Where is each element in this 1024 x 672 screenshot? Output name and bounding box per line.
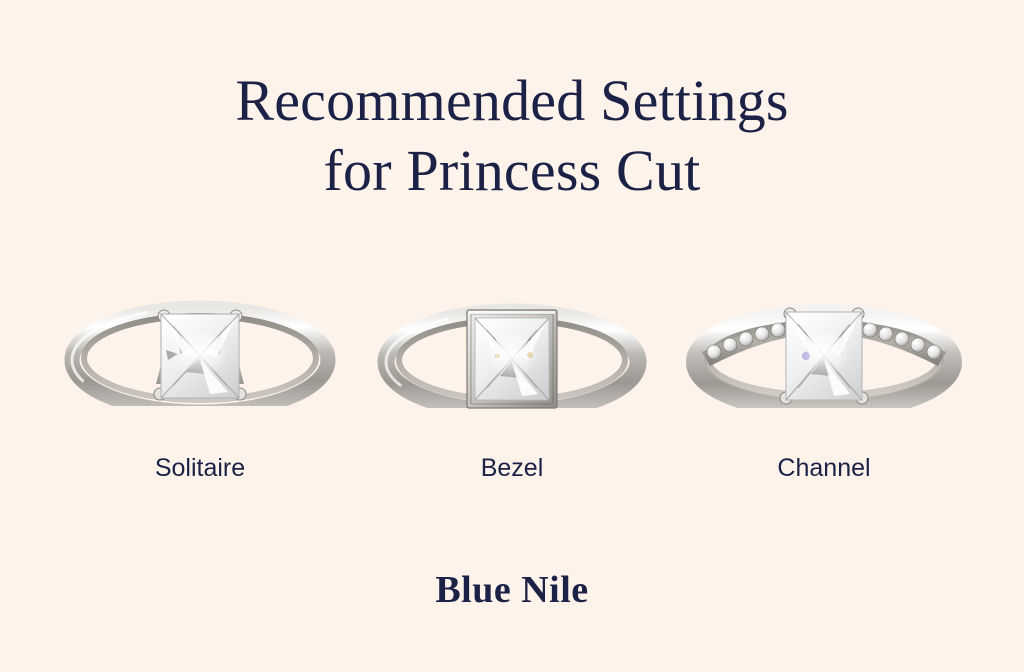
page-title-line-1: Recommended Settings [0,66,1024,136]
setting-label-solitaire: Solitaire [40,452,360,484]
ring-gallery [0,288,1024,438]
brand-name: Blue Nile [0,568,1024,612]
channel-ring-icon [684,288,964,428]
solitaire-ring-icon [60,288,340,428]
poster-canvas: Recommended Settings for Princess Cut [0,0,1024,672]
ring-card-bezel[interactable] [352,288,672,438]
setting-label-bezel: Bezel [352,452,672,484]
bezel-ring-icon [372,288,652,428]
brand-logo: Blue Nile [0,568,1024,612]
ring-card-solitaire[interactable] [40,288,360,438]
setting-label-channel: Channel [664,452,984,484]
page-title-line-2: for Princess Cut [0,136,1024,206]
page-title: Recommended Settings for Princess Cut [0,66,1024,206]
ring-card-channel[interactable] [664,288,984,438]
setting-labels: Solitaire Bezel Channel [0,452,1024,488]
